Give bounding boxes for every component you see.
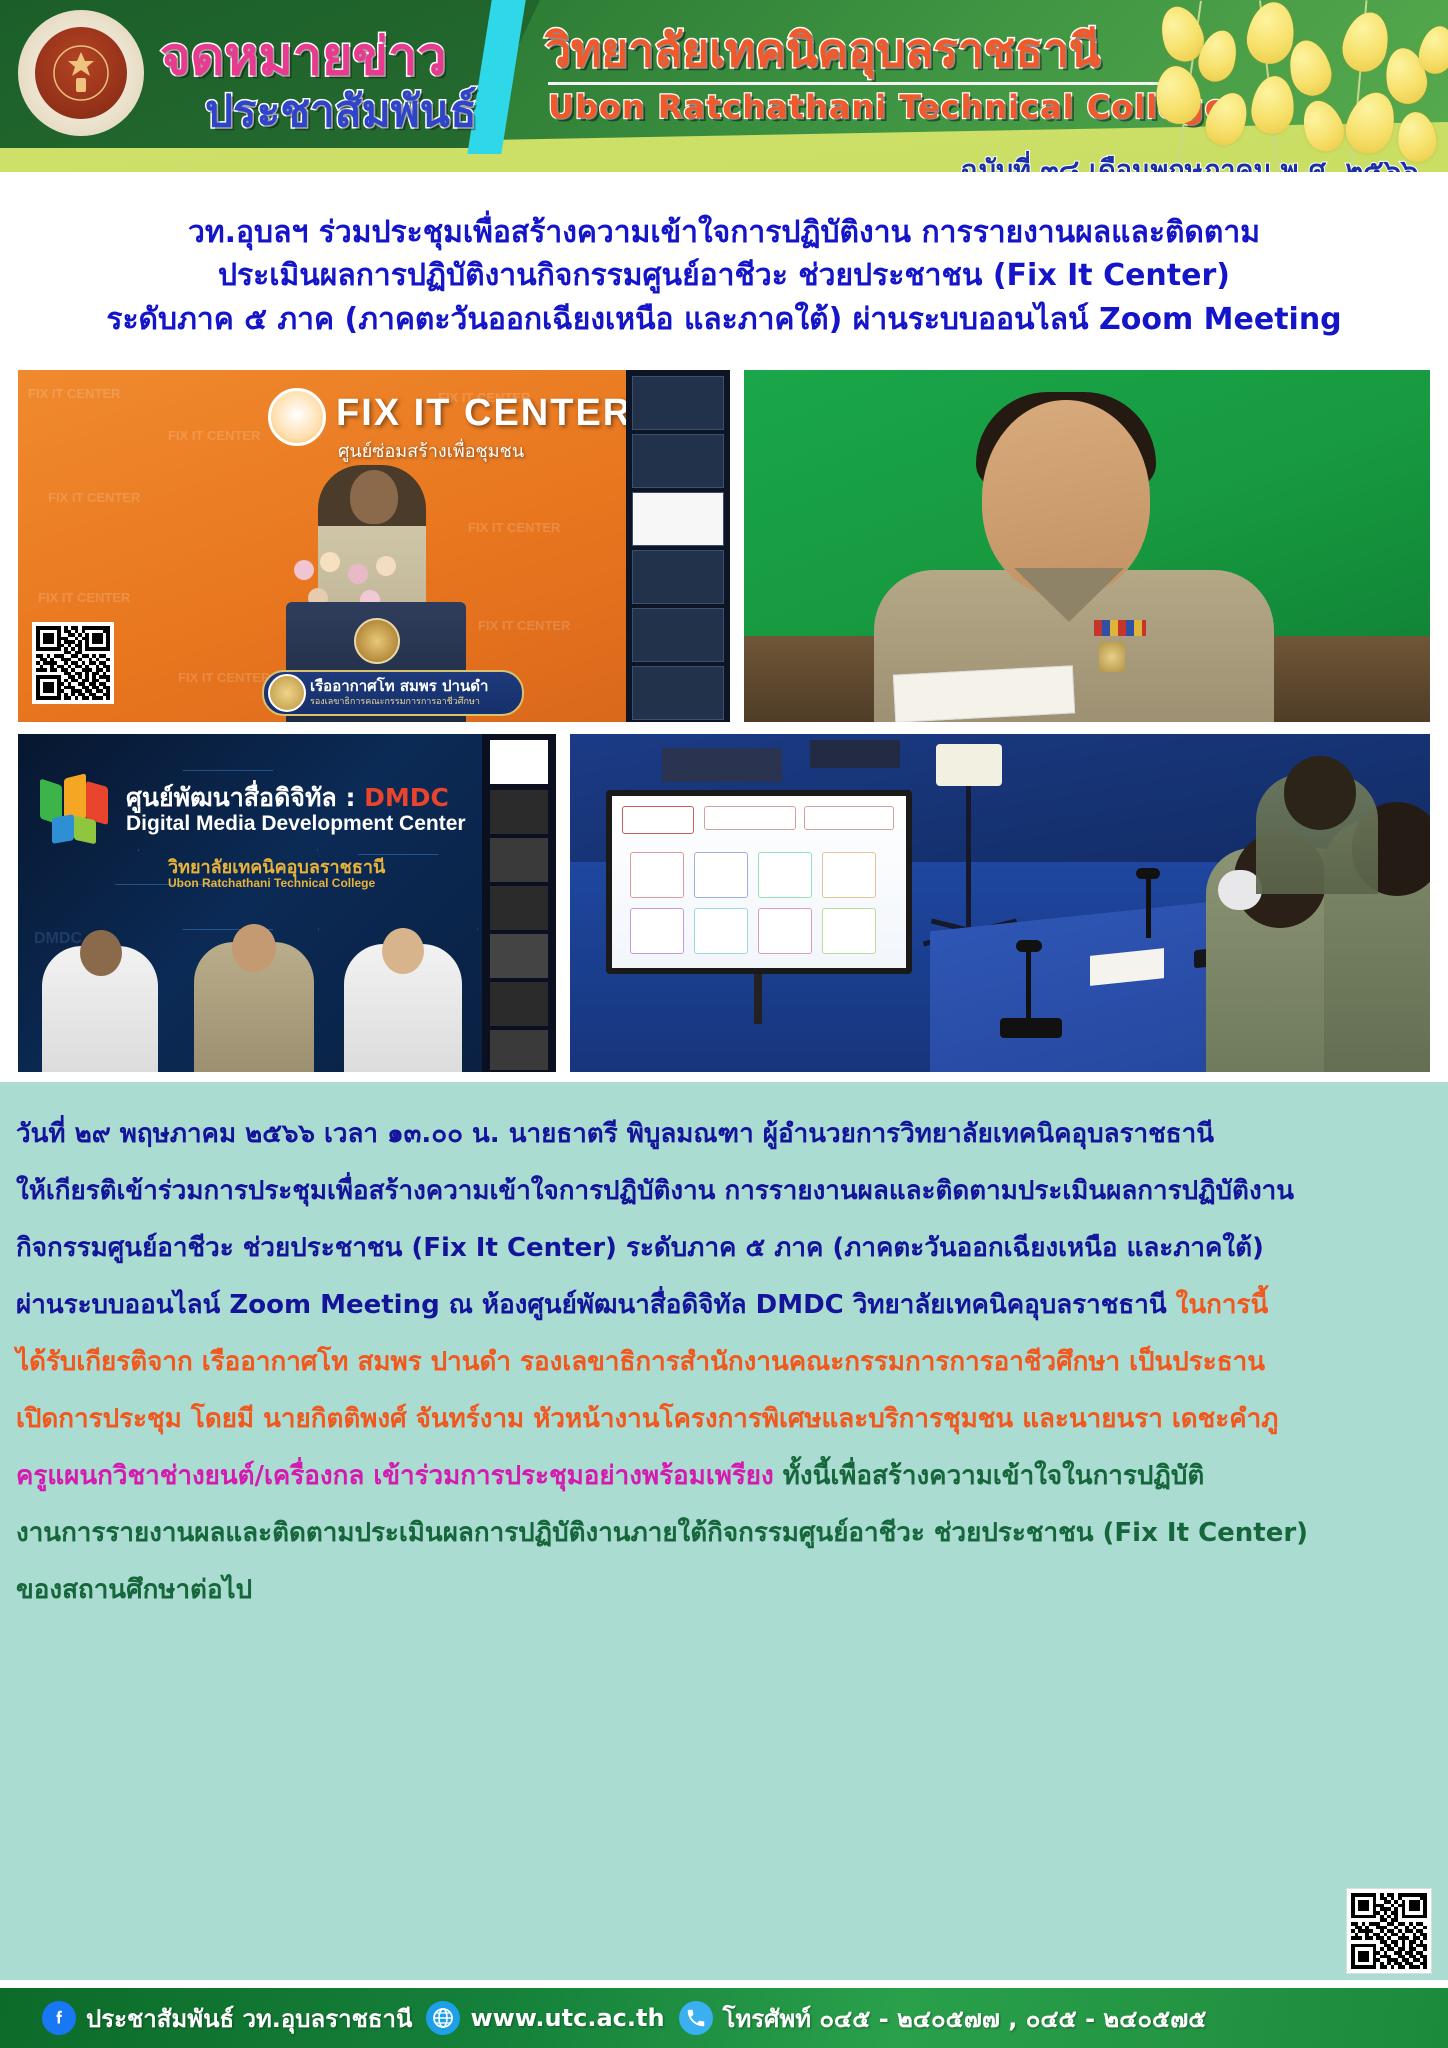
headline-block: วท.อุบลฯ ร่วมประชุมเพื่อสร้างความเข้าใจก… — [0, 172, 1448, 364]
photo1-watermark: FIX IT CENTER — [468, 520, 560, 535]
photo4-studio-light — [936, 744, 1002, 786]
footer-facebook-label: ประชาสัมพันธ์ วท.อุบลราชธานี — [86, 1999, 412, 2038]
newsletter-page: จดหมายข่าว ประชาสัมพันธ์ วิทยาลัยเทคนิคอ… — [0, 0, 1448, 2048]
photo4-microphone-head — [1016, 940, 1042, 952]
body-span: ให้เกียรติเข้าร่วมการประชุมเพื่อสร้างควา… — [16, 1176, 1294, 1206]
footer-phone[interactable]: โทรศัพท์ ๐๔๕ - ๒๔๐๕๗๗ , ๐๔๕ - ๒๔๐๕๗๕ — [679, 1999, 1207, 2038]
photo3-zoom-sidebar — [482, 734, 556, 1072]
photo1-watermark: FIX IT CENTER — [478, 618, 570, 633]
seal-emblem — [35, 27, 127, 119]
photo1-qr-code — [32, 622, 114, 704]
body-span: ผ่านระบบออนไลน์ Zoom Meeting ณ ห้องศูนย์… — [16, 1290, 1176, 1320]
photo1-watermark: FIX IT CENTER — [28, 386, 120, 401]
college-name-thai: วิทยาลัยเทคนิคอุบลราชธานี — [545, 14, 1100, 87]
photo-dmdc-panel: ศูนย์พัฒนาสื่อดิจิทัล : DMDC Digital Med… — [16, 732, 558, 1074]
body-span: งานการรายงานผลและติดตามประเมินผลการปฏิบั… — [16, 1518, 1308, 1548]
photo1-watermark: FIX IT CENTER — [48, 490, 140, 505]
body-span: เปิดการประชุม โดยมี นายกิตติพงศ์ จันทร์ง… — [16, 1404, 1278, 1434]
photo1-nameplate-seal — [268, 674, 306, 712]
body-line-3: กิจกรรมศูนย์อาชีวะ ช่วยประชาชน (Fix It C… — [16, 1220, 1430, 1277]
dve-bcbat-thumbnail — [490, 740, 548, 784]
photo4-microphone-base — [1000, 1018, 1062, 1038]
photo2-paper-document — [893, 665, 1075, 722]
photo3-panelist-1-face — [80, 930, 122, 976]
body-span-highlight: ทั้งนี้เพื่อสร้างความเข้าใจในการปฏิบัติ — [783, 1461, 1204, 1491]
photo3-title-th-text: ศูนย์พัฒนาสื่อดิจิทัล : — [126, 783, 364, 812]
photo-meeting-room — [568, 732, 1432, 1074]
body-span: ได้รับเกียรติจาก เรืออากาศโท สมพร ปานดำ … — [16, 1347, 1265, 1377]
photo1-zoom-sidebar — [626, 370, 730, 724]
body-span: ของสถานศึกษาต่อไป — [16, 1575, 252, 1605]
photo2-rank-ribbon — [1094, 620, 1146, 636]
seal-emblem-icon — [52, 44, 110, 102]
photo4-microphone-stem — [1026, 950, 1031, 1022]
footer-website-label: www.utc.ac.th — [470, 2004, 664, 2032]
photo3-panelist-2-face — [232, 924, 276, 972]
body-line-6: เปิดการประชุม โดยมี นายกิตติพงศ์ จันทร์ง… — [16, 1391, 1430, 1448]
photo3-panelist-3-face — [382, 928, 424, 974]
phone-icon — [679, 2001, 713, 2035]
fix-it-logo-icon — [268, 388, 326, 446]
photo4-screen-stand — [754, 974, 762, 1024]
qr-pattern — [36, 626, 110, 700]
photo4-tripod-pole — [966, 786, 971, 936]
footer-qr-code — [1346, 1888, 1432, 1974]
body-line-5: ได้รับเกียรติจาก เรืออากาศโท สมพร ปานดำ … — [16, 1334, 1430, 1391]
headline-line-3: ระดับภาค ๕ ภาค (ภาคตะวันออกเฉียงเหนือ แล… — [106, 298, 1341, 342]
page-header: จดหมายข่าว ประชาสัมพันธ์ วิทยาลัยเทคนิคอ… — [0, 0, 1448, 172]
photo3-watermark: DMDC — [34, 930, 82, 948]
body-span: กิจกรรมศูนย์อาชีวะ ช่วยประชาชน (Fix It C… — [16, 1233, 1264, 1263]
college-name-english: Ubon Ratchathani Technical College — [548, 88, 1227, 126]
photo-fix-it-center-podium: FIX IT CENTER FIX IT CENTER FIX IT CENTE… — [16, 368, 732, 724]
headline-line-1: วท.อุบลฯ ร่วมประชุมเพื่อสร้างความเข้าใจก… — [188, 211, 1260, 255]
body-line-2: ให้เกียรติเข้าร่วมการประชุมเพื่อสร้างควา… — [16, 1163, 1430, 1220]
photo1-watermark: FIX IT CENTER — [38, 590, 130, 605]
photo4-screen-content — [612, 796, 906, 968]
globe-icon — [426, 2001, 460, 2035]
photo4-attendee-3-head — [1284, 756, 1356, 830]
article-body: วันที่ ๒๙ พฤษภาคม ๒๕๖๖ เวลา ๑๓.๐๐ น. นาย… — [0, 1082, 1448, 1980]
photo2-badge — [1099, 642, 1125, 672]
photo-gallery: FIX IT CENTER FIX IT CENTER FIX IT CENTE… — [16, 368, 1432, 1078]
photo4-microphone-stem — [1146, 876, 1151, 938]
body-line-9: ของสถานศึกษาต่อไป — [16, 1562, 1430, 1619]
photo4-presentation-screen — [606, 790, 912, 974]
body-line-1: วันที่ ๒๙ พฤษภาคม ๒๕๖๖ เวลา ๑๓.๐๐ น. นาย… — [16, 1106, 1430, 1163]
newsletter-title-line2: ประชาสัมพันธ์ — [205, 76, 477, 146]
footer-phone-label: โทรศัพท์ ๐๔๕ - ๒๔๐๕๗๗ , ๐๔๕ - ๒๔๐๕๗๕ — [723, 1999, 1207, 2038]
qr-pattern — [1351, 1893, 1427, 1969]
photo3-college-english: Ubon Ratchathani Technical College — [168, 876, 375, 890]
photo4-ceiling-panel — [810, 740, 900, 768]
photo1-nameplate-role: รองเลขาธิการคณะกรรมการการอาชีวศึกษา — [310, 694, 488, 708]
photo3-overlay-title-english: Digital Media Development Center — [126, 812, 466, 836]
photo2-face — [982, 400, 1150, 596]
photo-director-portrait — [742, 368, 1432, 724]
photo1-watermark: FIX IT CENTER — [178, 670, 270, 685]
photo1-overlay-title: FIX IT CENTER — [336, 392, 632, 435]
body-line-8: งานการรายงานผลและติดตามประเมินผลการปฏิบั… — [16, 1505, 1430, 1562]
facebook-icon — [42, 2001, 76, 2035]
header-divider-rule — [548, 82, 1188, 85]
footer-website[interactable]: www.utc.ac.th — [426, 2001, 664, 2035]
photo4-microphone-head — [1136, 868, 1160, 879]
body-line-4: ผ่านระบบออนไลน์ Zoom Meeting ณ ห้องศูนย์… — [16, 1277, 1430, 1334]
body-line-7: ครูแผนกวิชาช่างยนต์/เครื่องกล เข้าร่วมกา… — [16, 1448, 1430, 1505]
photo1-nameplate-name: เรืออากาศโท สมพร ปานดำ — [310, 678, 488, 695]
issue-date-line: ฉบับที่ ๓๘ เดือนพฤษภาคม พ.ศ. ๒๕๖๖ — [960, 148, 1418, 172]
dmdc-logo-icon — [40, 776, 114, 848]
footer-facebook[interactable]: ประชาสัมพันธ์ วท.อุบลราชธานี — [42, 1999, 412, 2038]
flower-decoration — [1148, 0, 1448, 172]
photo1-speaker-face — [350, 470, 398, 524]
photo1-watermark: FIX IT CENTER — [168, 428, 260, 443]
photo4-ceiling-panel — [662, 748, 782, 782]
photo1-podium-seal — [354, 618, 400, 664]
college-seal-logo — [18, 10, 144, 136]
headline-line-2: ประเมินผลการปฏิบัติงานกิจกรรมศูนย์อาชีวะ… — [218, 254, 1230, 298]
photo3-title-accent: DMDC — [364, 783, 449, 812]
body-span: ครูแผนกวิชาช่างยนต์/เครื่องกล เข้าร่วมกา… — [16, 1461, 783, 1491]
body-span-highlight: ในการนี้ — [1176, 1290, 1269, 1320]
photo1-overlay-subtitle: ศูนย์ซ่อมสร้างเพื่อชุมชน — [338, 436, 524, 465]
body-span: วันที่ ๒๙ พฤษภาคม ๒๕๖๖ เวลา ๑๓.๐๐ น. นาย… — [16, 1119, 1214, 1149]
page-footer: ประชาสัมพันธ์ วท.อุบลราชธานี www.utc.ac.… — [0, 1988, 1448, 2048]
